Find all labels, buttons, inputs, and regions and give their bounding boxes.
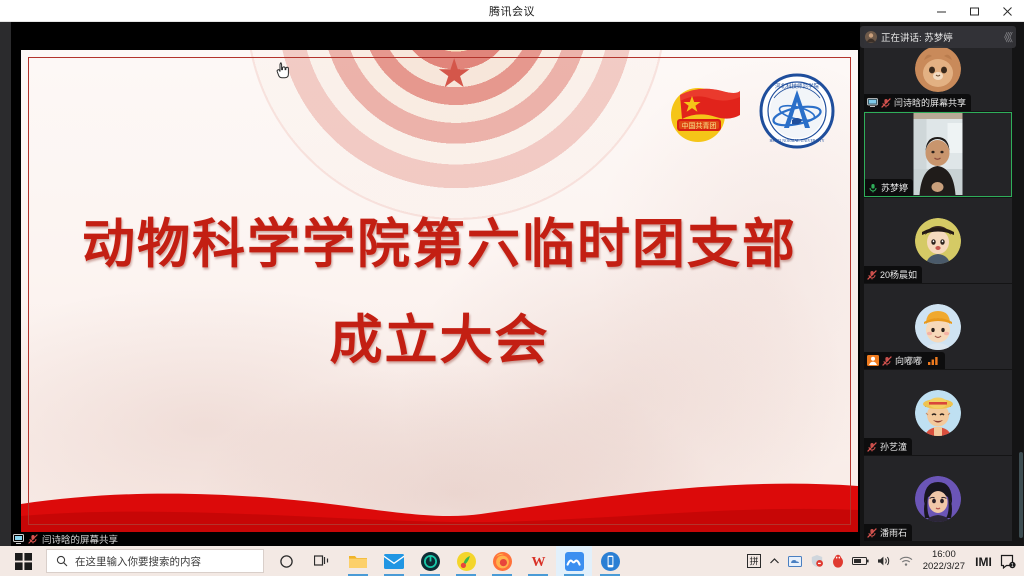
mic-unmuted-icon: [868, 183, 878, 193]
start-button[interactable]: [0, 546, 46, 576]
screen-share-stage[interactable]: 中国共青团 河北科技师范学院 HEBE: [11, 22, 860, 546]
close-button[interactable]: [991, 0, 1024, 22]
search-icon: [56, 555, 68, 567]
cortana-button[interactable]: [268, 546, 304, 576]
mic-muted-icon: [882, 356, 892, 366]
tray-overflow-button[interactable]: [765, 546, 784, 576]
taskbar-app-mail[interactable]: [376, 546, 412, 576]
participant-name-chip: 向嘟嘟: [864, 352, 945, 369]
participant-name-chip: 闫诗晗的屏幕共享: [864, 94, 971, 111]
chevron-left-icon[interactable]: 《《: [999, 29, 1012, 45]
participant-name-chip: 苏梦婷: [865, 179, 913, 196]
avatar: [915, 390, 961, 436]
mic-muted-icon: [881, 98, 891, 108]
participant-name-chip: 孙艺潼: [864, 438, 912, 455]
speaker-avatar-icon: [865, 31, 877, 43]
participant-name-chip: 20杨晨如: [864, 266, 922, 283]
svg-text:中国共青团: 中国共青团: [682, 121, 717, 130]
participant-tile[interactable]: 苏梦婷: [864, 112, 1012, 197]
search-placeholder: 在这里输入你要搜索的内容: [75, 554, 201, 569]
svg-text:拼: 拼: [749, 556, 758, 567]
search-input[interactable]: 在这里输入你要搜索的内容: [46, 549, 264, 573]
meeting-window-body: 中国共青团 河北科技师范学院 HEBE: [0, 22, 1024, 546]
action-center-button[interactable]: 1: [996, 546, 1020, 576]
host-badge-icon: [867, 355, 879, 366]
clock-time: 16:00: [932, 549, 956, 561]
active-speaker-text: 正在讲话: 苏梦婷: [881, 30, 953, 44]
taskbar-clock[interactable]: 16:00 2022/3/27: [917, 546, 971, 576]
participant-name-chip: 潘雨石: [864, 524, 912, 541]
communist-youth-league-logo-icon: 中国共青团: [660, 75, 746, 147]
university-seal-logo-icon: 河北科技师范学院 HEBEI NORMAL UNIVERSITY: [758, 72, 836, 150]
taskbar-app-firefox[interactable]: [484, 546, 520, 576]
panel-scrollbar[interactable]: [1019, 452, 1023, 538]
avatar: [915, 304, 961, 350]
minimize-button[interactable]: [925, 0, 958, 22]
participant-name: 闫诗晗的屏幕共享: [894, 96, 966, 109]
monitor-share-icon: [13, 534, 24, 544]
left-rail: [0, 22, 11, 546]
ime-indicator[interactable]: 拼: [743, 546, 765, 576]
taskbar-app-wps[interactable]: W: [520, 546, 556, 576]
participant-name: 向嘟嘟: [895, 354, 922, 367]
svg-text:IMI: IMI: [975, 555, 992, 569]
slide-title: 动物科学学院第六临时团支部 成立大会: [21, 218, 858, 369]
svg-text:河北科技师范学院: 河北科技师范学院: [775, 82, 820, 90]
mic-muted-icon: [867, 442, 877, 452]
task-view-button[interactable]: [304, 546, 340, 576]
mic-muted-icon: [28, 534, 38, 544]
participant-tile[interactable]: 孙艺潼: [864, 370, 1012, 455]
screen-share-icon: [867, 98, 878, 107]
video-feed: [914, 113, 963, 195]
avatar: [915, 218, 961, 264]
window-controls: [925, 0, 1024, 22]
onedrive-icon[interactable]: [784, 546, 806, 576]
windows-taskbar: 在这里输入你要搜索的内容 W: [0, 546, 1024, 576]
battery-icon[interactable]: [848, 546, 873, 576]
taskbar-app-file-explorer[interactable]: [340, 546, 376, 576]
taskbar-app-blue[interactable]: [592, 546, 628, 576]
signal-strength-icon: [928, 356, 940, 365]
meeting-tray-icon[interactable]: IMI: [971, 546, 996, 576]
mic-muted-icon: [867, 270, 877, 280]
taskbar-app-green[interactable]: [448, 546, 484, 576]
share-status-bar: 闫诗晗的屏幕共享: [11, 532, 860, 546]
participant-name: 潘雨石: [880, 526, 907, 539]
participant-name: 孙艺潼: [880, 440, 907, 453]
slide-title-line2: 成立大会: [21, 314, 858, 370]
clock-date: 2022/3/27: [923, 561, 965, 573]
taskbar-app-tencent-meeting[interactable]: [556, 546, 592, 576]
participant-name: 苏梦婷: [881, 181, 908, 194]
qq-icon[interactable]: [828, 546, 848, 576]
security-shield-icon[interactable]: [806, 546, 828, 576]
svg-text:W: W: [531, 555, 545, 569]
taskbar-buttons: W: [268, 546, 628, 576]
participants-panel[interactable]: 闫诗晗的屏幕共享: [860, 22, 1024, 546]
volume-icon[interactable]: [873, 546, 895, 576]
window-title: 腾讯会议: [489, 3, 535, 19]
avatar: [915, 46, 961, 92]
share-presenter-label: 闫诗晗的屏幕共享: [42, 532, 118, 546]
taskbar-app-dark[interactable]: [412, 546, 448, 576]
window-titlebar: 腾讯会议: [0, 0, 1024, 22]
svg-text:1: 1: [1011, 563, 1014, 569]
slide-wave-decoration: [21, 442, 858, 532]
participant-tile[interactable]: 潘雨石: [864, 456, 1012, 541]
participant-name: 20杨晨如: [880, 268, 917, 281]
network-wifi-icon[interactable]: [895, 546, 917, 576]
shared-slide: 中国共青团 河北科技师范学院 HEBE: [21, 50, 858, 532]
active-speaker-banner: 正在讲话: 苏梦婷 《《: [860, 26, 1016, 48]
avatar: [915, 476, 961, 522]
participant-tile[interactable]: 20杨晨如: [864, 198, 1012, 283]
maximize-button[interactable]: [958, 0, 991, 22]
slide-logos: 中国共青团 河北科技师范学院 HEBE: [660, 72, 836, 150]
svg-text:HEBEI NORMAL UNIVERSITY: HEBEI NORMAL UNIVERSITY: [770, 138, 825, 143]
mic-muted-icon: [867, 528, 877, 538]
slide-title-line1: 动物科学学院第六临时团支部: [21, 218, 858, 274]
system-tray: 拼 16:00 2022/3/27 IMI 1: [743, 546, 1024, 576]
participant-tile[interactable]: 向嘟嘟: [864, 284, 1012, 369]
